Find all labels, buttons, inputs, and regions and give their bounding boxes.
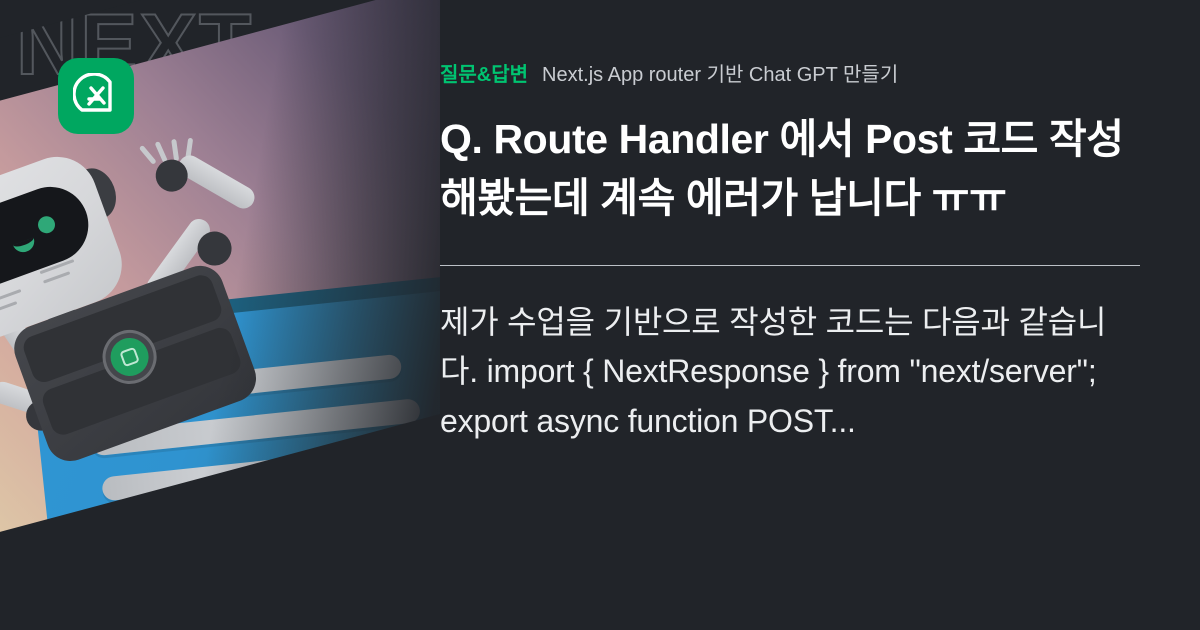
robot-vent-line [43, 271, 70, 283]
course-title: Next.js App router 기반 Chat GPT 만들기 [542, 58, 898, 87]
robot-core-inner-icon [119, 347, 140, 368]
inflearn-leaf-icon [73, 73, 119, 119]
qa-category-tag: 질문&답변 [440, 58, 528, 87]
robot-vent-line [0, 301, 17, 313]
robot-core-icon [105, 333, 154, 382]
content-divider [440, 265, 1140, 266]
robot-smile-icon [13, 237, 37, 255]
kicker-row: 질문&답변 Next.js App router 기반 Chat GPT 만들기 [440, 58, 1140, 88]
robot-illustration [0, 128, 293, 464]
robot-eye-left [0, 234, 1, 256]
robot-eye-right [36, 214, 58, 236]
robot-arm-upper-right [175, 151, 259, 212]
inflearn-logo-badge [58, 58, 134, 134]
question-body-excerpt: 제가 수업을 기반으로 작성한 코드는 다음과 같습니다. import { N… [440, 298, 1140, 447]
question-title: Q. Route Handler 에서 Post 코드 작성해봤는데 계속 에러… [440, 110, 1140, 229]
og-card: NEXT [0, 0, 1200, 630]
content-panel: 질문&답변 Next.js App router 기반 Chat GPT 만들기… [440, 0, 1200, 630]
